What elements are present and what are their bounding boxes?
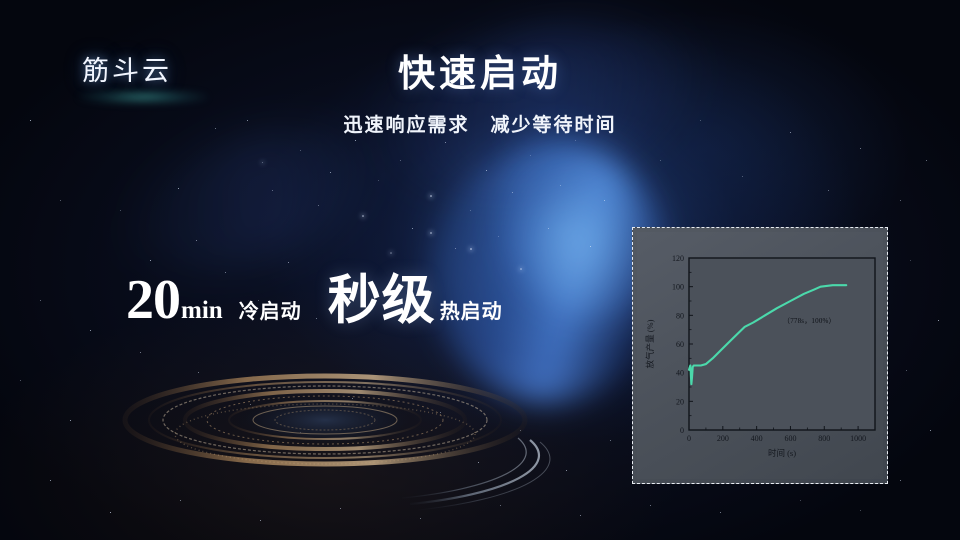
nebula-haze-upper xyxy=(367,0,714,216)
star xyxy=(720,512,721,513)
star xyxy=(478,462,479,463)
star xyxy=(300,432,301,433)
star xyxy=(455,248,456,249)
star xyxy=(318,205,319,206)
cold-start-value: 20 xyxy=(126,272,180,328)
star xyxy=(340,508,341,509)
star xyxy=(560,185,561,186)
star xyxy=(520,430,521,431)
star xyxy=(50,480,51,481)
star xyxy=(262,162,263,163)
star xyxy=(860,148,861,149)
star xyxy=(860,510,861,511)
star xyxy=(178,188,179,189)
star xyxy=(604,200,605,201)
startup-curve-chart: 02004006008001000020406080100120时间 (s)放气… xyxy=(637,232,885,481)
star xyxy=(470,248,472,250)
star xyxy=(742,176,743,177)
star xyxy=(196,240,197,241)
svg-text:100: 100 xyxy=(672,283,684,292)
page-subtitle: 迅速响应需求 减少等待时间 xyxy=(0,110,960,137)
star xyxy=(352,398,353,399)
star xyxy=(440,412,441,413)
cold-start-label: 冷启动 xyxy=(239,295,302,324)
star xyxy=(938,320,939,321)
svg-text:0: 0 xyxy=(687,434,691,443)
svg-text:20: 20 xyxy=(676,397,684,406)
hot-start-value: 秒级 xyxy=(328,274,436,327)
star xyxy=(378,180,379,181)
star xyxy=(90,330,91,331)
svg-text:0: 0 xyxy=(680,426,684,435)
star xyxy=(355,140,356,141)
star xyxy=(400,160,401,161)
star xyxy=(272,190,273,191)
decorative-rings xyxy=(110,372,580,522)
star xyxy=(900,480,901,481)
chart-annotation: （778s，100%） xyxy=(783,316,836,326)
star xyxy=(120,210,121,211)
star xyxy=(548,228,549,229)
star xyxy=(445,142,446,143)
star xyxy=(530,155,531,156)
star xyxy=(610,440,611,441)
slide-canvas: 筋斗云 快速启动 迅速响应需求 减少等待时间 20 min 冷启动 秒级 热启动… xyxy=(0,0,960,540)
svg-text:80: 80 xyxy=(676,311,684,320)
star xyxy=(660,160,661,161)
page-title: 快速启动 xyxy=(0,43,960,97)
star xyxy=(300,150,301,151)
chart-panel: 02004006008001000020406080100120时间 (s)放气… xyxy=(632,227,888,484)
star xyxy=(40,300,41,301)
star xyxy=(800,500,801,501)
star xyxy=(150,260,151,261)
svg-text:600: 600 xyxy=(784,434,796,443)
star xyxy=(20,380,21,381)
star xyxy=(498,236,499,237)
svg-text:120: 120 xyxy=(672,254,684,263)
star xyxy=(362,215,364,217)
svg-text:时间 (s): 时间 (s) xyxy=(768,448,796,458)
svg-text:400: 400 xyxy=(751,434,763,443)
star xyxy=(520,268,522,270)
star xyxy=(420,518,421,519)
stat-comparison: 20 min 冷启动 秒级 热启动 xyxy=(126,272,503,328)
star xyxy=(60,200,61,201)
star xyxy=(500,505,501,506)
chart-panel-inner: 02004006008001000020406080100120时间 (s)放气… xyxy=(637,232,883,479)
star xyxy=(512,192,513,193)
star xyxy=(650,505,651,506)
star xyxy=(566,470,567,471)
svg-text:1000: 1000 xyxy=(850,434,866,443)
star xyxy=(400,440,401,441)
star xyxy=(430,232,432,234)
star xyxy=(828,190,829,191)
star xyxy=(70,420,71,421)
star xyxy=(486,170,487,171)
svg-text:200: 200 xyxy=(717,434,729,443)
star xyxy=(906,370,907,371)
star xyxy=(288,262,289,263)
star xyxy=(900,200,901,201)
star xyxy=(110,512,111,513)
star xyxy=(926,160,927,161)
star xyxy=(470,210,471,211)
svg-text:放气产量 (%): 放气产量 (%) xyxy=(645,319,655,368)
svg-text:60: 60 xyxy=(676,340,684,349)
svg-text:40: 40 xyxy=(676,369,684,378)
star xyxy=(910,260,911,261)
star xyxy=(250,404,251,405)
star xyxy=(430,195,432,197)
star xyxy=(412,228,413,229)
star xyxy=(575,140,576,141)
star xyxy=(330,172,331,173)
star xyxy=(198,372,199,373)
cold-start-unit: min xyxy=(181,297,223,325)
star xyxy=(180,500,181,501)
hot-start-label: 热启动 xyxy=(440,295,503,324)
svg-text:800: 800 xyxy=(818,434,830,443)
star xyxy=(140,352,141,353)
star xyxy=(390,252,392,254)
star xyxy=(590,246,591,247)
star xyxy=(580,515,581,516)
star xyxy=(930,430,931,431)
star xyxy=(260,520,261,521)
